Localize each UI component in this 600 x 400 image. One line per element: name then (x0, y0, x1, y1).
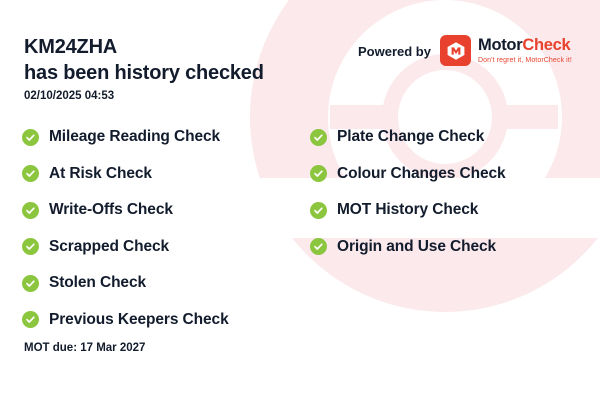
check-circle-icon (310, 129, 327, 146)
motorcheck-logo-text: MotorCheck Don't regret it, MotorCheck i… (478, 37, 572, 64)
mot-due-text: MOT due: 17 Mar 2027 (24, 342, 145, 354)
check-label: Write-Offs Check (49, 201, 173, 219)
check-item: Previous Keepers Check (22, 302, 229, 339)
check-circle-icon (22, 275, 39, 292)
registration-plate: KM24ZHA (24, 36, 117, 58)
check-label: Colour Changes Check (337, 165, 506, 183)
page-title: KM24ZHA has been history checked (24, 34, 264, 86)
check-circle-icon (22, 238, 39, 255)
check-label: MOT History Check (337, 201, 478, 219)
check-item: Plate Change Check (310, 119, 506, 156)
check-label: Mileage Reading Check (49, 128, 220, 146)
check-item: Origin and Use Check (310, 229, 506, 266)
page-subtitle: has been history checked (24, 60, 264, 86)
check-circle-icon (22, 202, 39, 219)
check-circle-icon (22, 165, 39, 182)
check-circle-icon (310, 165, 327, 182)
check-circle-icon (310, 238, 327, 255)
check-label: Previous Keepers Check (49, 311, 229, 329)
check-item: At Risk Check (22, 156, 229, 193)
check-label: At Risk Check (49, 165, 152, 183)
vehicle-history-check-card: KM24ZHA has been history checked 02/10/2… (0, 0, 600, 400)
check-item: Colour Changes Check (310, 156, 506, 193)
check-timestamp: 02/10/2025 04:53 (24, 90, 114, 102)
brand-tagline: Don't regret it, MotorCheck it! (478, 57, 572, 64)
brand-name: MotorCheck (478, 37, 572, 54)
check-item: Stolen Check (22, 265, 229, 302)
motorcheck-logo-mark-icon (440, 35, 471, 66)
motorcheck-logo: MotorCheck Don't regret it, MotorCheck i… (440, 35, 572, 66)
checks-column-left: Mileage Reading Check At Risk Check Writ… (22, 119, 229, 338)
check-item: Scrapped Check (22, 229, 229, 266)
check-circle-icon (22, 129, 39, 146)
check-label: Origin and Use Check (337, 238, 496, 256)
check-label: Stolen Check (49, 274, 146, 292)
check-item: Write-Offs Check (22, 192, 229, 229)
powered-by-label: Powered by (358, 44, 431, 59)
check-item: MOT History Check (310, 192, 506, 229)
checks-column-right: Plate Change Check Colour Changes Check … (310, 119, 506, 265)
check-circle-icon (310, 202, 327, 219)
check-label: Plate Change Check (337, 128, 484, 146)
check-circle-icon (22, 311, 39, 328)
check-label: Scrapped Check (49, 238, 169, 256)
brand-name-part1: Motor (478, 36, 522, 54)
brand-name-part2: Check (522, 36, 570, 54)
check-item: Mileage Reading Check (22, 119, 229, 156)
